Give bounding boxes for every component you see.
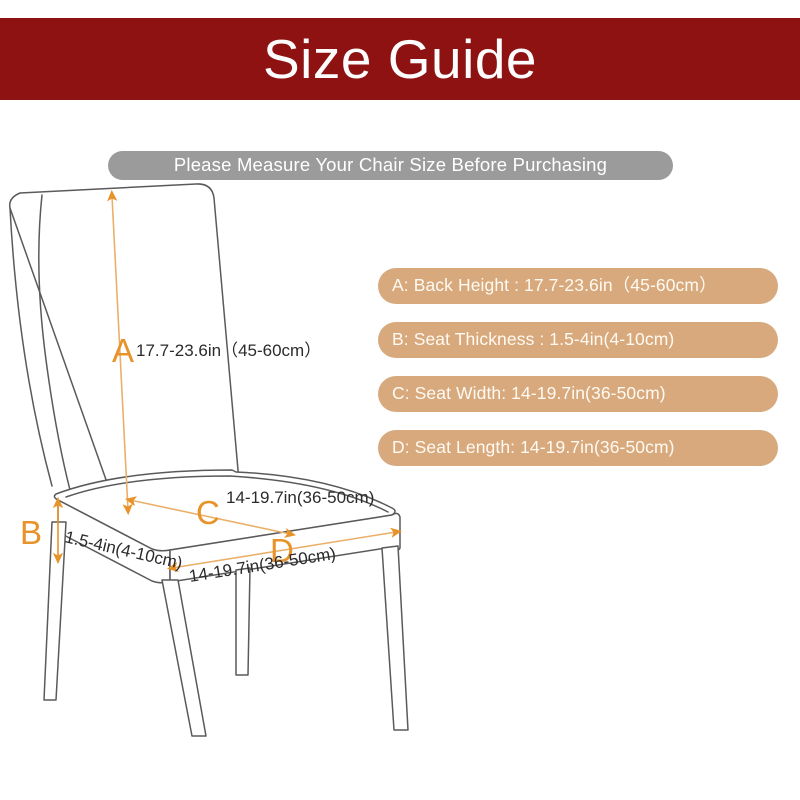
dimension-c-letter: C (196, 494, 220, 531)
chair-leg-rear-left (44, 522, 66, 700)
page-title: Size Guide (263, 32, 537, 87)
chair-leg-front-right (382, 546, 408, 730)
dimension-a-letter: A (112, 332, 134, 369)
dimension-b-letter: B (20, 514, 42, 551)
chair-diagram: A 17.7-23.6in（45-60cm） C 14-19.7in(36-50… (0, 170, 460, 770)
chair-leg-front-left (162, 580, 206, 736)
header-band: Size Guide (0, 18, 800, 100)
dimension-c-value: 14-19.7in(36-50cm) (226, 488, 374, 507)
chair-leg-rear-middle (236, 568, 250, 675)
chair-outline (10, 184, 408, 736)
dimension-a-value: 17.7-23.6in（45-60cm） (136, 341, 321, 360)
